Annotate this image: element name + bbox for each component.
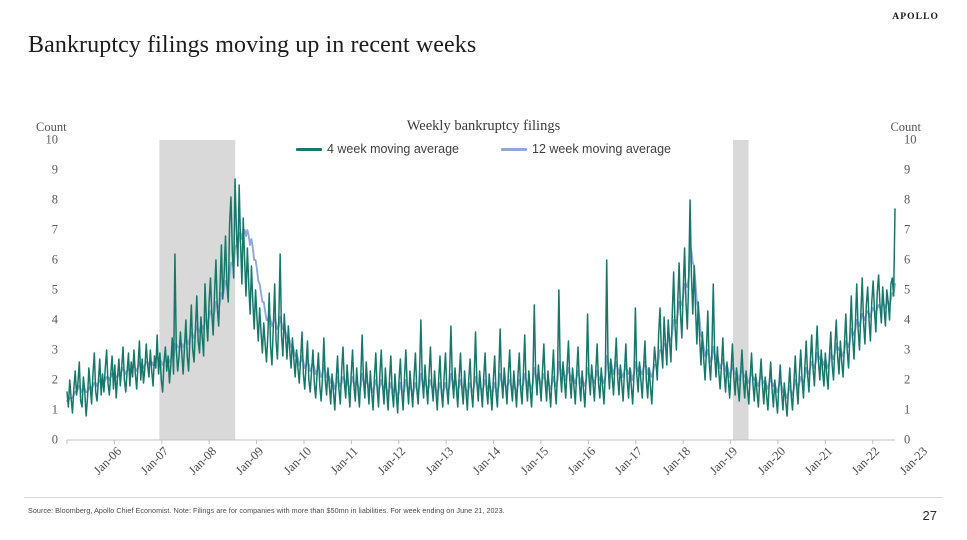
y-tick-label-left: 8 — [52, 193, 58, 208]
x-tick-label: Jan-23 — [896, 444, 930, 478]
x-tick-label: Jan-08 — [186, 444, 220, 478]
x-tick-label: Jan-09 — [233, 444, 267, 478]
x-tick-label: Jan-22 — [849, 444, 883, 478]
x-tick-label: Jan-06 — [91, 444, 125, 478]
x-tick-label: Jan-12 — [375, 444, 409, 478]
page-title: Bankruptcy filings moving up in recent w… — [28, 32, 476, 59]
x-tick-label: Jan-07 — [138, 444, 172, 478]
y-tick-label-right: 4 — [904, 313, 910, 328]
x-tick-label: Jan-15 — [517, 444, 551, 478]
y-tick-label-right: 3 — [904, 343, 910, 358]
y-tick-label-left: 2 — [52, 373, 58, 388]
slide-root: APOLLO Bankruptcy filings moving up in r… — [0, 0, 967, 540]
y-tick-label-right: 5 — [904, 283, 910, 298]
y-tick-label-right: 7 — [904, 223, 910, 238]
y-tick-label-left: 5 — [52, 283, 58, 298]
apollo-logo: APOLLO — [892, 12, 939, 22]
x-tick-label: Jan-14 — [470, 444, 504, 478]
y-tick-label-left: 6 — [52, 253, 58, 268]
y-tick-label-left: 10 — [46, 133, 59, 148]
x-tick-label: Jan-13 — [423, 444, 457, 478]
y-tick-label-right: 6 — [904, 253, 910, 268]
y-tick-label-right: 0 — [904, 433, 910, 448]
y-tick-label-right: 10 — [904, 133, 917, 148]
y-tick-label-left: 7 — [52, 223, 58, 238]
y-tick-label-left: 4 — [52, 313, 58, 328]
y-tick-label-right: 8 — [904, 193, 910, 208]
x-tick-label: Jan-21 — [802, 444, 836, 478]
y-tick-label-right: 9 — [904, 163, 910, 178]
y-tick-label-right: 2 — [904, 373, 910, 388]
y-tick-label-left: 3 — [52, 343, 58, 358]
x-tick-label: Jan-20 — [754, 444, 788, 478]
x-tick-label: Jan-16 — [565, 444, 599, 478]
x-tick-label: Jan-10 — [280, 444, 314, 478]
source-note: Source: Bloomberg, Apollo Chief Economis… — [28, 506, 505, 515]
chart-container: Count Count Weekly bankruptcy filings 4 … — [0, 110, 967, 495]
y-tick-label-left: 1 — [52, 403, 58, 418]
page-number: 27 — [923, 508, 937, 523]
y-tick-label-right: 1 — [904, 403, 910, 418]
plot-svg — [67, 140, 895, 440]
footer-divider — [24, 497, 943, 498]
plot-area: 101099887766554433221100 Jan-06Jan-07Jan… — [67, 140, 895, 440]
x-tick-label: Jan-18 — [659, 444, 693, 478]
x-tick-label: Jan-11 — [328, 444, 362, 478]
chart-title: Weekly bankruptcy filings — [0, 118, 967, 135]
x-tick-label: Jan-19 — [707, 444, 741, 478]
x-tick-label: Jan-17 — [612, 444, 646, 478]
y-tick-label-left: 9 — [52, 163, 58, 178]
y-tick-label-left: 0 — [52, 433, 58, 448]
